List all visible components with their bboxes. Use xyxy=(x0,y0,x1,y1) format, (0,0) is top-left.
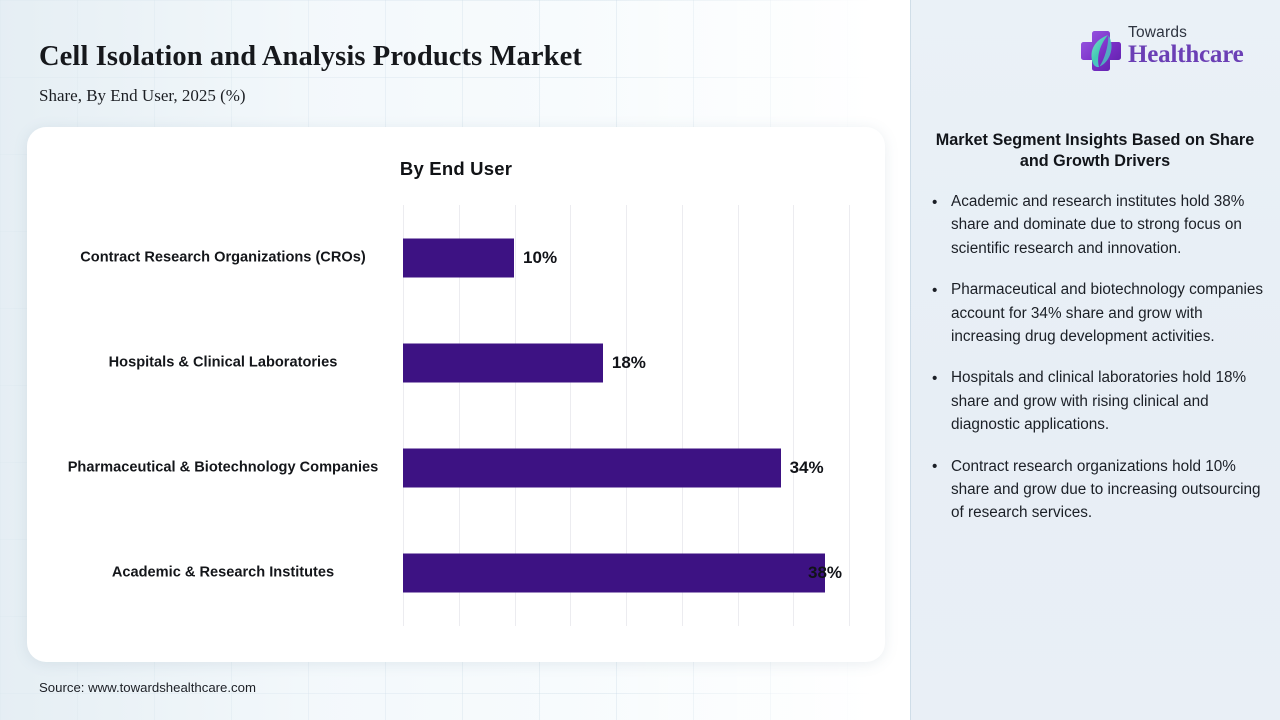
source-note: Source: www.towardshealthcare.com xyxy=(39,680,256,695)
cross-leaf-logo-icon xyxy=(1078,28,1124,74)
bar-category-label: Academic & Research Institutes xyxy=(53,564,393,583)
bullet-icon: • xyxy=(932,279,937,302)
bar-row: Hospitals & Clinical Laboratories18% xyxy=(403,310,849,415)
bar[interactable] xyxy=(403,449,781,488)
bar[interactable] xyxy=(403,343,603,382)
page-title: Cell Isolation and Analysis Products Mar… xyxy=(39,41,582,73)
insight-text: Academic and research institutes hold 38… xyxy=(951,193,1244,257)
insight-list-item: •Academic and research institutes hold 3… xyxy=(918,190,1266,260)
gridline xyxy=(849,205,850,626)
bar-row: Contract Research Organizations (CROs)10… xyxy=(403,205,849,310)
bar-category-label: Contract Research Organizations (CROs) xyxy=(53,248,393,267)
brand-wordmark-line1: Towards xyxy=(1128,24,1244,42)
bar[interactable] xyxy=(403,238,514,277)
brand-wordmark: Towards Healthcare xyxy=(1128,24,1244,68)
bar-value-label: 34% xyxy=(790,458,824,478)
bar-row: Academic & Research Institutes38% xyxy=(403,521,849,626)
insight-text: Contract research organizations hold 10%… xyxy=(951,458,1261,522)
bullet-icon: • xyxy=(932,455,937,478)
bullet-icon: • xyxy=(932,191,937,214)
bar-category-label: Pharmaceutical & Biotechnology Companies xyxy=(53,459,393,478)
bar-value-label: 18% xyxy=(612,353,646,373)
insights-heading: Market Segment Insights Based on Share a… xyxy=(925,130,1265,173)
insights-list: •Academic and research institutes hold 3… xyxy=(918,190,1266,543)
page-subtitle: Share, By End User, 2025 (%) xyxy=(39,86,246,106)
bar-row: Pharmaceutical & Biotechnology Companies… xyxy=(403,416,849,521)
bar[interactable] xyxy=(403,554,825,593)
bar-category-label: Hospitals & Clinical Laboratories xyxy=(53,353,393,372)
insight-text: Hospitals and clinical laboratories hold… xyxy=(951,369,1246,433)
insight-list-item: •Contract research organizations hold 10… xyxy=(918,455,1266,525)
bullet-icon: • xyxy=(932,367,937,390)
brand-wordmark-line2: Healthcare xyxy=(1128,42,1244,68)
brand-logo[interactable]: Towards Healthcare xyxy=(1078,24,1253,80)
insight-list-item: •Hospitals and clinical laboratories hol… xyxy=(918,366,1266,436)
insight-text: Pharmaceutical and biotechnology compani… xyxy=(951,281,1263,345)
chart-title: By End User xyxy=(27,158,885,180)
bar-value-label: 38% xyxy=(808,563,842,583)
insight-list-item: •Pharmaceutical and biotechnology compan… xyxy=(918,278,1266,348)
bar-value-label: 10% xyxy=(523,248,557,268)
chart-card: By End User Contract Research Organizati… xyxy=(27,127,885,662)
bar-chart-plot-area: Contract Research Organizations (CROs)10… xyxy=(403,205,849,626)
